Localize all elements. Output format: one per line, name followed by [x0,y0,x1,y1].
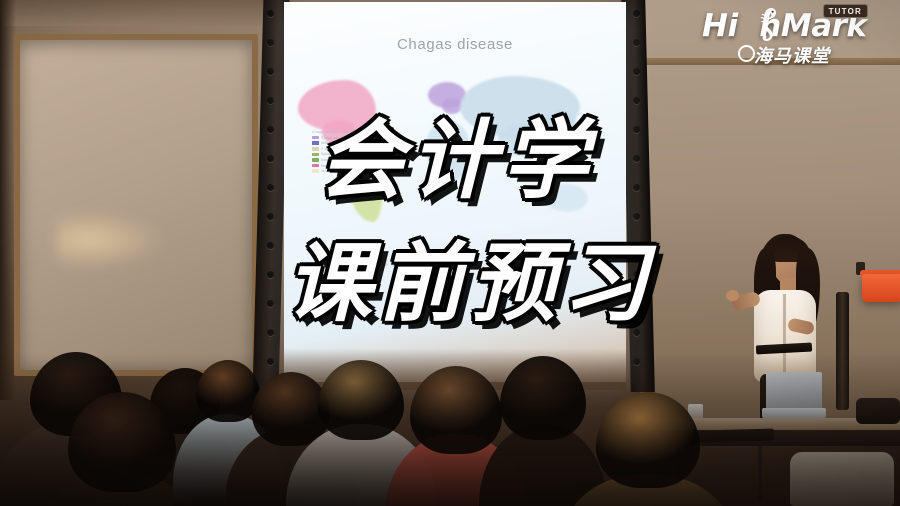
brand-logo: HighMark TUTOR 海马课堂 [702,4,890,66]
legend-row: T. cruzi only [312,136,372,140]
legend-label: Sylvatic cycle [321,152,341,156]
screen-grommet [633,68,640,75]
legend-row: Non-endemic cases [312,164,372,168]
legend-row: T. cruzi + vector [312,147,372,151]
screen-grommet [267,329,274,336]
legend-swatch [312,158,319,162]
map-region-europe [442,98,462,114]
screen-grommet [633,213,640,220]
legend-swatch [312,136,319,140]
legend-row: Domestic cycle [312,158,372,162]
screen-grommet [267,271,274,278]
map-region-africa [426,120,470,182]
screen-grommet [633,242,640,249]
legend-label: Non-endemic cases [321,164,351,168]
whiteboard-glare [56,210,166,270]
screen-grommet [633,271,640,278]
logo-accent-circle [738,45,755,62]
screen-grommet [267,126,274,133]
screen-grommet [633,184,640,191]
map-legend: Chagas disease endemic areas T. cruzi on… [312,130,372,173]
screen-grommet [267,39,274,46]
screen-grommet [633,329,640,336]
black-bag [856,398,900,424]
table-leg [758,446,762,502]
screen-grommet [267,10,274,17]
bullet-dot [314,262,317,265]
screen-grommet [633,10,640,17]
legend-swatch [312,147,319,151]
screen-grommet [267,155,274,162]
sharps-container [862,274,900,302]
presenter-hand-left [726,290,739,301]
brand-chinese-name: 海马课堂 [754,42,830,68]
iv-pole [836,292,849,410]
video-frame: Chagas disease Chagas disease endemic ar… [0,0,900,506]
screen-grommet [633,39,640,46]
brand-text-part1: Hi [702,8,738,44]
foreground-chair [790,452,894,506]
screen-grommet [633,300,640,307]
seahorse-icon [758,6,780,46]
legend-swatch [312,164,319,168]
bullet-text: T. cruzi causes Chagas disease [322,258,462,269]
screen-grommet [267,300,274,307]
legend-label: Domestic cycle [321,158,344,162]
screen-grommet [267,213,274,220]
screen-grommet [267,242,274,249]
legend-label: No data [321,169,333,173]
legend-label: Vector only [321,141,338,145]
legend-row: No data [312,169,372,173]
screen-grommet [267,68,274,75]
legend-swatch [312,153,319,157]
screen-grommet [267,358,274,365]
screen-grommet [633,358,640,365]
whiteboard [14,34,258,376]
map-region-asia [542,110,576,138]
presenter-top-placket [783,294,786,378]
legend-row: Vector only [312,141,372,145]
map-region-australia [544,184,588,212]
legend-row: Sylvatic cycle [312,152,372,156]
slide-title: Chagas disease [284,36,626,53]
screen-grommet [633,126,640,133]
projection-screen: Chagas disease Chagas disease endemic ar… [258,0,650,394]
screen-grommet [267,184,274,191]
slide-surface: Chagas disease Chagas disease endemic ar… [284,2,626,382]
legend-swatch [312,169,319,173]
macbook-screen [766,372,822,410]
macbook-base [762,408,826,418]
legend-label: T. cruzi + vector [321,147,345,151]
legend-label: T. cruzi only [321,136,339,140]
attendee-4-head [196,360,260,422]
legend-swatch [312,141,319,145]
legend-title: Chagas disease endemic areas [312,130,372,134]
slide-bullet: T. cruzi causes Chagas disease [314,258,614,269]
screen-grommet [633,155,640,162]
screen-grommet [633,97,640,104]
tutor-badge: TUTOR [823,4,868,18]
screen-grommet [267,97,274,104]
